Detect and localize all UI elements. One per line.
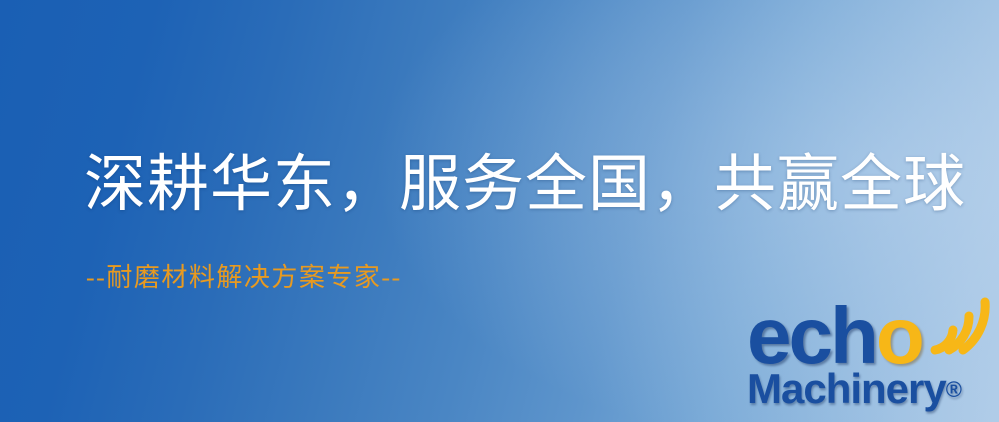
- signal-waves-icon: [927, 294, 999, 356]
- registered-trademark-icon: ®: [946, 377, 962, 402]
- banner-headline: 深耕华东，服务全国，共赢全球: [84, 154, 966, 217]
- echo-machinery-logo[interactable]: echo Machinery®: [745, 296, 999, 422]
- promotional-banner: 深耕华东，服务全国，共赢全球 --耐磨材料解决方案专家-- echo Machi…: [0, 0, 999, 422]
- logo-tagline-text: Machinery: [747, 365, 946, 412]
- logo-wordmark: echo: [747, 296, 922, 376]
- logo-tagline: Machinery®: [747, 368, 962, 411]
- banner-subtitle: --耐磨材料解决方案专家--: [86, 265, 402, 291]
